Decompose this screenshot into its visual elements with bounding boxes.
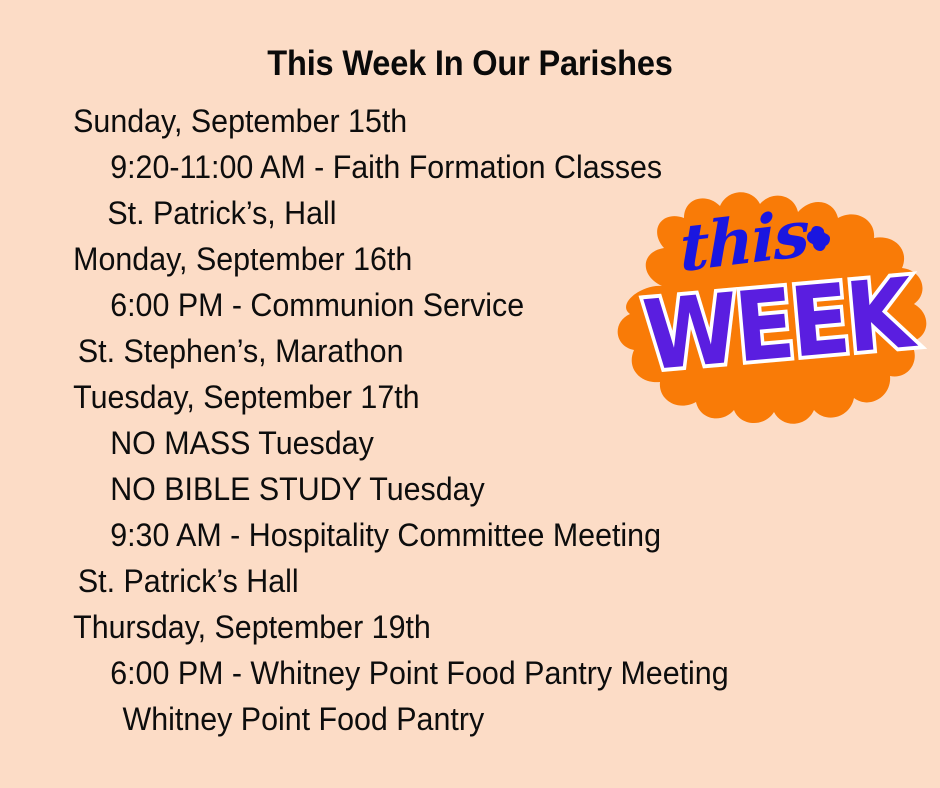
schedule-line: St. Patrick’s Hall — [0, 558, 893, 604]
flower-dot-icon — [810, 230, 827, 247]
schedule-line: 9:30 AM - Hospitality Committee Meeting — [0, 512, 893, 558]
schedule-line: NO BIBLE STUDY Tuesday — [0, 466, 893, 512]
badge-script-word: this — [679, 196, 808, 287]
schedule-line: 6:00 PM - Whitney Point Food Pantry Meet… — [0, 650, 893, 696]
parish-bulletin-poster: This Week In Our Parishes Sunday, Septem… — [0, 0, 940, 788]
page-title: This Week In Our Parishes — [33, 44, 907, 84]
this-week-badge: WEEK this — [618, 190, 940, 440]
schedule-line: Thursday, September 19th — [0, 604, 893, 650]
schedule-line: 9:20-11:00 AM - Faith Formation Classes — [0, 144, 893, 190]
schedule-line: Sunday, September 15th — [0, 98, 893, 144]
schedule-line: Whitney Point Food Pantry — [0, 696, 893, 742]
